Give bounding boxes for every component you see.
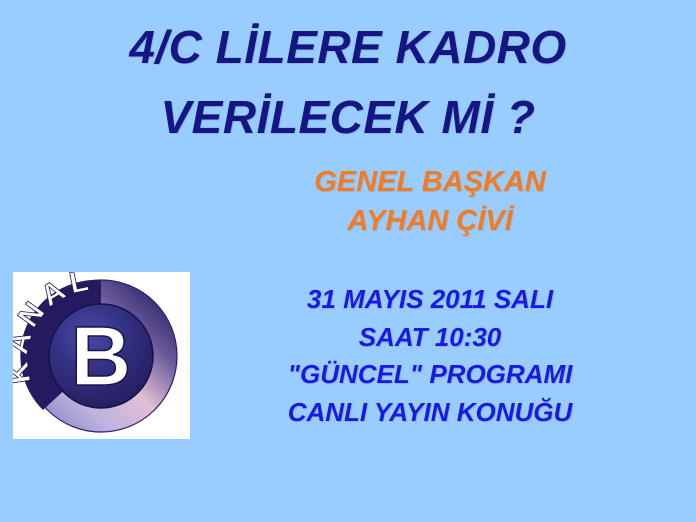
subtitle-line-2: AYHAN ÇİVİ — [200, 202, 660, 241]
subtitle-line-1: GENEL BAŞKAN — [200, 163, 660, 202]
kanal-b-logo-card: KANAL B — [13, 272, 190, 439]
details-line-time: SAAT 10:30 — [205, 319, 655, 357]
headline-line-1: 4/C LİLERE KADRO — [0, 24, 696, 70]
details-line-program: "GÜNCEL" PROGRAMI — [205, 356, 655, 394]
details-line-date: 31 MAYIS 2011 SALI — [205, 281, 655, 319]
details-line-role: CANLI YAYIN KONUĞU — [205, 394, 655, 432]
logo-letter-b: B — [71, 309, 132, 403]
poster-canvas: 4/C LİLERE KADRO VERİLECEK Mİ ? GENEL BA… — [0, 0, 696, 522]
headline-line-2: VERİLECEK Mİ ? — [0, 94, 696, 140]
details-block: 31 MAYIS 2011 SALI SAAT 10:30 "GÜNCEL" P… — [205, 281, 655, 432]
kanal-b-logo-icon: KANAL B — [13, 272, 190, 439]
subtitle-block: GENEL BAŞKAN AYHAN ÇİVİ — [200, 163, 660, 241]
